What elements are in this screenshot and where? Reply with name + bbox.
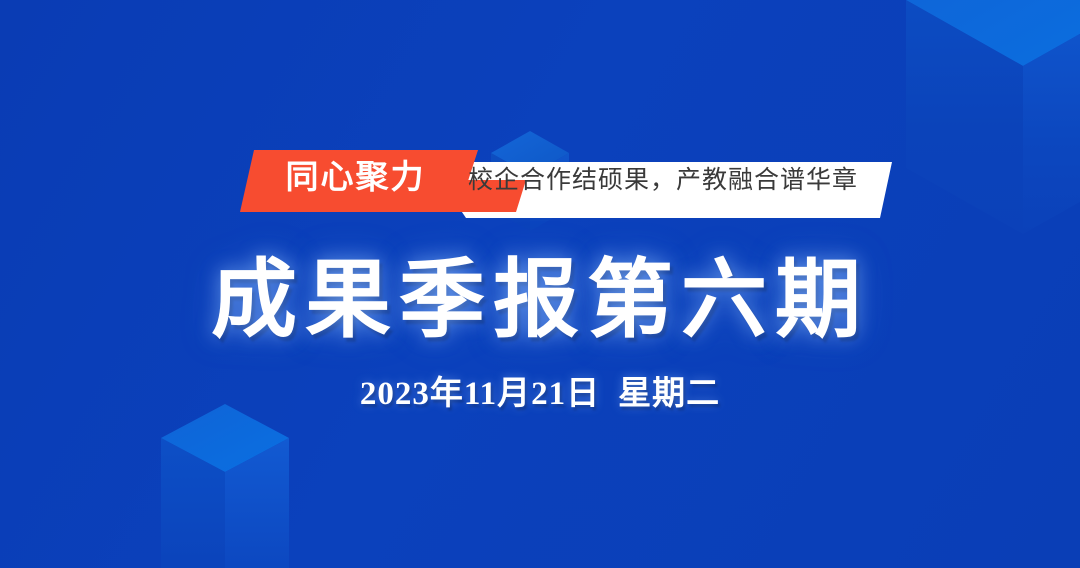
isometric-cube-top-right-icon bbox=[905, 0, 1080, 242]
page-title: 成果季报第六期 bbox=[0, 248, 1080, 352]
headline-banner: 同心聚力 校企合作结硕果，产教融合谱华章 bbox=[230, 140, 910, 230]
banner-badge-label: 同心聚力 bbox=[258, 153, 453, 201]
isometric-cube-bottom-left-icon bbox=[160, 402, 290, 568]
banner-slogan-label: 校企合作结硕果，产教融合谱华章 bbox=[468, 159, 858, 201]
weekday-value: 星期二 bbox=[618, 376, 720, 412]
date-value: 2023年11月21日 bbox=[360, 376, 600, 412]
poster-canvas: 同心聚力 校企合作结硕果，产教融合谱华章 成果季报第六期 2023年11月21日… bbox=[0, 0, 1080, 568]
date-line: 2023年11月21日星期二 bbox=[0, 372, 1080, 416]
